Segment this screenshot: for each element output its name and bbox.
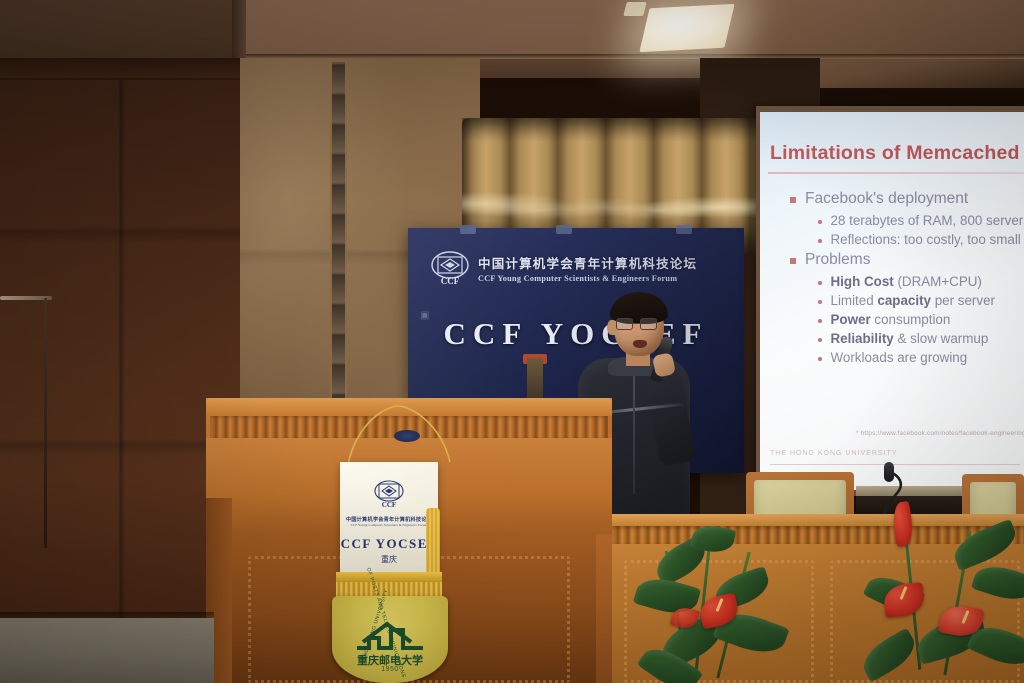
ccf-logo-icon: CCF: [373, 478, 405, 510]
ceiling-left-bay: [0, 0, 232, 62]
cqupt-year: 1950: [332, 666, 448, 673]
glasses-lens-left: [616, 318, 633, 330]
pennant-english-title: CCF Young Computer Scientists & Engineer…: [340, 523, 438, 527]
banner-clip: [676, 225, 692, 234]
slide-bullet-l2: Power consumption: [818, 312, 1024, 327]
banner-english-title: CCF Young Computer Scientists & Engineer…: [478, 274, 697, 283]
dot-bullet-icon: [818, 338, 822, 342]
dot-bullet-icon: [818, 300, 822, 304]
wall-cornice: [0, 58, 246, 80]
glasses-icon: [616, 318, 662, 330]
slide-bullet-l2: Reflections: too costly, too small: [818, 232, 1024, 247]
pennant-cord: [340, 404, 458, 468]
slide-bullet-text: Facebook's deployment: [805, 190, 968, 208]
conference-hall-photo: CCF 中国计算机学会青年计算机科技论坛 CCF Young Computer …: [0, 0, 1024, 683]
ccf-yocsef-pennant: CCF 中国计算机学会青年计算机科技论坛 CCF Young Computer …: [340, 462, 438, 574]
wall-rail-post: [44, 298, 47, 548]
banner-chinese-title: 中国计算机学会青年计算机科技论坛: [478, 253, 697, 272]
slide-bullet-text: Reflections: too costly, too small: [831, 232, 1021, 247]
glasses-bridge: [633, 323, 640, 324]
slide-bullet-l1: Problems: [790, 251, 1024, 269]
slide-bullet-rest: per server: [931, 293, 995, 308]
slide-title: Limitations of Memcached: [770, 142, 1024, 165]
slide-bullet-rest: consumption: [871, 312, 951, 327]
speaker-mouth: [633, 340, 647, 348]
banner-small-mark: ▣: [420, 310, 430, 321]
plant-leaf: [856, 628, 921, 683]
plant-leaf: [949, 519, 1021, 572]
square-bullet-icon: [790, 258, 796, 264]
banner-stand-top: [523, 354, 547, 364]
ceiling-light-fixture-icon: [623, 2, 646, 16]
pennant-big-text: CCF YOCSEF: [340, 536, 438, 552]
slide-bullet-l2: Limited capacity per server: [818, 293, 1024, 308]
projection-screen: Limitations of Memcached Facebook's depl…: [760, 112, 1024, 490]
svg-text:CCF: CCF: [441, 276, 460, 286]
dot-bullet-icon: [818, 357, 822, 361]
banner-big-text: CCF YOCSEF: [408, 316, 744, 352]
ccf-logo-icon: CCF: [430, 248, 470, 288]
cqupt-emblem-icon: [353, 616, 427, 650]
plant-leaf: [971, 559, 1024, 606]
slide-bullet-text: 28 terabytes of RAM, 800 servers: [831, 213, 1024, 228]
pennant-city: 重庆: [340, 554, 438, 565]
marble-decorative-strip: [330, 62, 347, 412]
banner-header: CCF 中国计算机学会青年计算机科技论坛 CCF Young Computer …: [430, 246, 730, 290]
slide-title-rule: [768, 172, 1024, 174]
slide-bullet-l2: Workloads are growing: [818, 350, 1024, 365]
svg-text:CCF: CCF: [382, 501, 396, 509]
dot-bullet-icon: [818, 239, 822, 243]
banner-clip: [556, 225, 572, 234]
slide-bullet-rest: (DRAM+CPU): [894, 274, 982, 289]
stage-floor: [0, 618, 214, 683]
anthurium-plant-right: [860, 510, 1024, 683]
slide-bullet-bold: Reliability: [831, 331, 894, 346]
slide-body: Facebook's deployment 28 terabytes of RA…: [790, 190, 1024, 369]
slide-bullet-rest: & slow warmup: [894, 331, 989, 346]
cqupt-pennant: CHONGQING UNIVERSITY OF POSTS AND TELECO…: [332, 596, 448, 683]
speaker-ear: [607, 320, 616, 335]
slide-bullet-text: Problems: [805, 251, 870, 269]
slide-bullet-bold: capacity: [877, 293, 931, 308]
pennant-tassel-bar: [336, 572, 442, 582]
slide-footnote: * https://www.facebook.com/notes/faceboo…: [856, 430, 1024, 437]
slide-bullet-text: Workloads are growing: [831, 350, 968, 365]
anthurium-plant-left: [636, 520, 836, 683]
slide-footer-mark: THE HONG KONG UNIVERSITY: [770, 450, 897, 457]
dot-bullet-icon: [818, 281, 822, 285]
slide-bullet-l1: Facebook's deployment: [790, 190, 1024, 208]
slide-bullet-bold: Power: [831, 312, 871, 327]
dot-bullet-icon: [818, 220, 822, 224]
dot-bullet-icon: [818, 319, 822, 323]
square-bullet-icon: [790, 197, 796, 203]
gooseneck-mic-capsule: [884, 462, 894, 482]
slide-bullet-pre: Limited: [831, 293, 878, 308]
banner-clip: [460, 225, 476, 234]
glasses-lens-right: [640, 318, 657, 330]
jacket-zipper: [633, 374, 635, 494]
pennant-chinese-title: 中国计算机学会青年计算机科技论坛: [340, 516, 438, 523]
slide-bullet-l2: Reliability & slow warmup: [818, 331, 1024, 346]
slide-bullet-l2: High Cost (DRAM+CPU): [818, 274, 1024, 289]
ceiling-light-panel-icon: [639, 4, 734, 52]
slide-bullet-l2: 28 terabytes of RAM, 800 servers: [818, 213, 1024, 228]
slide-bullet-bold: High Cost: [831, 274, 894, 289]
